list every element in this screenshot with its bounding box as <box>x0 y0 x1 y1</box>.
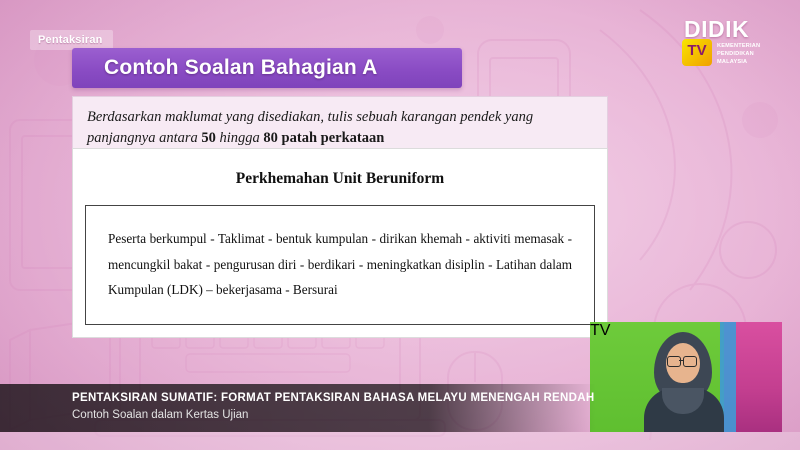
lower-third: PENTAKSIRAN SUMATIF: FORMAT PENTAKSIRAN … <box>0 384 596 432</box>
instruction-line-2-pre: panjangnya antara <box>87 130 201 146</box>
instruction-max-words: 80 <box>263 130 278 146</box>
bottom-bar <box>0 432 800 450</box>
logo-tv-badge: TV <box>682 39 712 66</box>
instruction-min-words: 50 <box>201 130 216 146</box>
instruction-text: Berdasarkan maklumat yang disediakan, tu… <box>87 107 593 149</box>
stimulus-box: Peserta berkumpul - Taklimat - bentuk ku… <box>85 205 595 325</box>
logo-ministry-line-1: KEMENTERIAN <box>717 42 760 50</box>
glasses-right-lens-icon <box>683 356 697 367</box>
content-card: Perkhemahan Unit Beruniform Peserta berk… <box>72 148 608 338</box>
page-title: Contoh Soalan Bahagian A <box>72 56 378 80</box>
glasses-bridge-icon <box>679 360 684 361</box>
logo-tv-text: TV <box>682 42 712 59</box>
card-heading: Perkhemahan Unit Beruniform <box>73 170 607 188</box>
instruction-range-connector: hingga <box>220 130 260 146</box>
slide-title-banner: Contoh Soalan Bahagian A <box>72 48 462 88</box>
glasses-left-lens-icon <box>667 356 681 367</box>
stimulus-text: Peserta berkumpul - Taklimat - bentuk ku… <box>108 226 572 303</box>
broadcast-slide-screen: Pentaksiran Contoh Soalan Bahagian A Ber… <box>0 0 800 450</box>
lower-third-subtitle: Contoh Soalan dalam Kertas Ujian <box>72 407 596 424</box>
presenter-video-panel: TV <box>590 322 782 432</box>
logo-ministry-line-2: PENDIDIKAN <box>717 50 760 58</box>
topic-tag: Pentaksiran <box>30 30 113 50</box>
logo-ministry-text: KEMENTERIAN PENDIDIKAN MALAYSIA <box>717 42 760 66</box>
instruction-unit: patah perkataan <box>282 130 385 146</box>
logo-ministry-line-3: MALAYSIA <box>717 58 760 66</box>
presenter-figure <box>636 326 732 432</box>
instruction-line-1: Berdasarkan maklumat yang disediakan, tu… <box>87 109 533 125</box>
presenter-corner-logo-text: TV <box>590 322 610 339</box>
lower-third-title: PENTAKSIRAN SUMATIF: FORMAT PENTAKSIRAN … <box>72 390 596 407</box>
didik-tv-logo: DIDIK TV KEMENTERIAN PENDIDIKAN MALAYSIA <box>674 14 786 74</box>
